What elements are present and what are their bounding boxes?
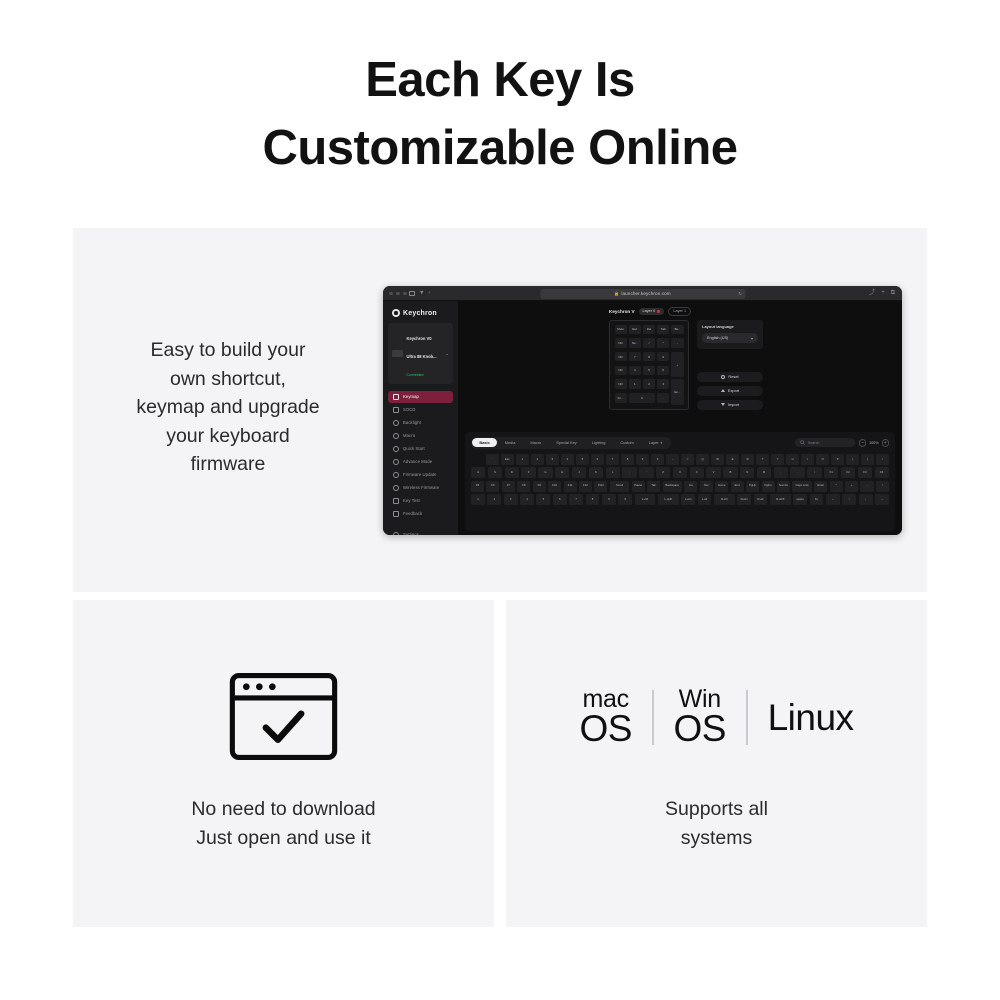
window-traffic-lights[interactable] — [389, 292, 407, 296]
key-test-icon — [393, 498, 399, 504]
keycode-key[interactable]: V — [706, 467, 720, 478]
layout-language-select[interactable]: English (US) ▾ — [702, 333, 758, 343]
keycode-key[interactable]: [ — [846, 454, 859, 465]
sidebar-item-keymap[interactable]: Keymap — [388, 391, 453, 403]
firmware-update-icon — [393, 472, 399, 478]
brand-label: Keychron — [403, 310, 437, 317]
layout-language-value: English (US) — [707, 336, 728, 340]
keycode-key[interactable]: PgDn — [762, 481, 775, 492]
keycode-key[interactable]: 0 — [651, 454, 664, 465]
page-title: Each Key Is Customizable Online — [0, 46, 1000, 182]
keycode-key[interactable]: Scroll — [610, 481, 629, 492]
tab-basic[interactable]: Basic — [472, 438, 496, 447]
keycode-key[interactable]: F — [521, 467, 535, 478]
keycode-key[interactable]: 5 — [576, 454, 589, 465]
keycode-key[interactable]: ' — [639, 467, 653, 478]
sidebar-item-advance-mode[interactable]: Advance Mode — [388, 456, 453, 468]
keycode-key[interactable]: R — [741, 454, 754, 465]
numpad-key[interactable]: 8 — [643, 352, 655, 362]
sidebar-item-macro[interactable]: Macro — [388, 430, 453, 442]
keycode-tabs-row: Basic Media Macro Special Key Lighting C… — [471, 437, 889, 449]
keycode-key[interactable]: \ — [876, 454, 889, 465]
browser-url-text: launcher.keychron.com — [621, 291, 670, 296]
numpad-key[interactable]: 1 — [629, 379, 641, 389]
keycode-key[interactable]: . — [790, 467, 804, 478]
promo-line-4: your keyboard — [100, 422, 356, 451]
keymap-config-row: Mute Esc Del Tab Bs... NO Nu... / * - NO… — [609, 320, 895, 410]
sidebar-item-firmware-update[interactable]: Firmware Update — [388, 469, 453, 481]
feature-card-no-download — [73, 600, 494, 927]
launcher-promo-text: Easy to build your own shortcut, keymap … — [100, 336, 356, 479]
caption-line-2: systems — [506, 824, 927, 853]
keycode-key[interactable]: 9 — [636, 454, 649, 465]
keycode-key[interactable]: K — [589, 467, 603, 478]
numpad-key[interactable]: 7 — [629, 352, 641, 362]
numpad-key[interactable]: 3 — [657, 379, 669, 389]
chevron-down-icon: ▾ — [751, 336, 753, 341]
browser-address-bar[interactable]: 🔒 launcher.keychron.com ↻ — [540, 289, 745, 299]
keycode-key[interactable]: F8 — [517, 481, 530, 492]
device-info: Keychron V0 Ultra 88 Knob... Connected — [407, 327, 442, 381]
keycode-key[interactable]: 9 — [602, 494, 616, 505]
promo-line-3: keymap and upgrade — [100, 393, 356, 422]
maximize-window-icon[interactable] — [403, 292, 407, 296]
keycode-key[interactable]: S — [488, 467, 502, 478]
tab-layer[interactable]: Layer▾ — [642, 438, 669, 447]
keycode-key[interactable]: → — [875, 494, 889, 505]
export-button-label: Export — [728, 388, 739, 393]
device-name-line-1: Keychron V0 — [407, 336, 432, 341]
keycode-key[interactable]: * — [830, 481, 843, 492]
launcher-app-body: Keychron Keychron V0 Ultra 88 Knob... Co… — [383, 301, 902, 535]
keycode-key[interactable]: D — [505, 467, 519, 478]
keycode-key[interactable]: 4 — [561, 454, 574, 465]
macos-logo-bottom: OS — [579, 710, 631, 747]
back-icon[interactable]: ‹ — [428, 290, 430, 297]
sidebar-item-label: Macro — [403, 433, 415, 438]
sidebar-item-label: Keymap — [403, 394, 419, 399]
keycode-key[interactable]: R-win — [737, 494, 751, 505]
macos-logo: mac OS — [579, 687, 631, 747]
keycode-picker: Basic Media Macro Special Key Lighting C… — [465, 432, 895, 531]
keycode-key[interactable]: L-ctrl — [635, 494, 656, 505]
layer-tab-label: Layer 1 — [673, 309, 686, 313]
layout-language-label: Layout language — [702, 324, 758, 329]
keycode-key[interactable]: 1 — [516, 454, 529, 465]
keycode-key[interactable]: 7 — [569, 494, 583, 505]
tab-media[interactable]: Media — [498, 438, 523, 447]
keymap-actions: Reset Export Import — [697, 372, 763, 410]
sidebar-item-label: Quick Start — [403, 446, 425, 451]
tab-custom[interactable]: Custom — [613, 438, 640, 447]
zoom-level-label: 100% — [869, 441, 878, 445]
keycode-key[interactable] — [471, 454, 484, 465]
sidebar-item-label: SOCD — [403, 407, 416, 412]
keycode-key[interactable]: 2 — [531, 454, 544, 465]
numpad-key[interactable]: Mute — [615, 325, 627, 335]
keycode-key[interactable]: B — [723, 467, 737, 478]
chevron-down-icon[interactable]: ▼ — [419, 290, 424, 297]
sidebar-item-key-test[interactable]: Key Test — [388, 495, 453, 507]
numpad-key[interactable]: 5 — [643, 366, 655, 376]
keycode-key[interactable]: 2 — [487, 494, 501, 505]
keycode-key[interactable]: 8 — [586, 494, 600, 505]
device-status: Connected — [407, 373, 424, 377]
keycode-key[interactable]: H — [555, 467, 569, 478]
keycode-key[interactable]: L — [606, 467, 620, 478]
keycode-key[interactable]: U — [786, 454, 799, 465]
sidebar-item-label: Advance Mode — [403, 459, 432, 464]
keyboard-title: Keychron V — [609, 309, 635, 314]
keycode-key[interactable]: 6 — [591, 454, 604, 465]
keycode-key[interactable]: - — [860, 481, 873, 492]
keycode-key[interactable]: Home — [715, 481, 728, 492]
keycode-key[interactable]: F9 — [533, 481, 546, 492]
page-title-line-2: Customizable Online — [0, 114, 1000, 182]
app-sidebar: Keychron Keychron V0 Ultra 88 Knob... Co… — [383, 301, 458, 535]
browser-chrome: ▼ ‹ 🔒 launcher.keychron.com ↻ ⤴ + ⧉ — [383, 286, 902, 301]
keycode-key[interactable]: Fn — [810, 494, 824, 505]
caption-line-1: No need to download — [73, 795, 494, 824]
keycode-key[interactable]: N — [740, 467, 754, 478]
caption-line-1: Supports all — [506, 795, 927, 824]
keycode-key[interactable]: ` — [486, 454, 499, 465]
keycode-key[interactable]: space — [793, 494, 807, 505]
keycode-key[interactable]: F12 — [579, 481, 592, 492]
device-name-line-2: Ultra 88 Knob... — [407, 354, 437, 359]
keycode-key[interactable]: R-ctrl — [714, 494, 735, 505]
sidebar-toggle-icon[interactable] — [409, 291, 415, 296]
feature-card-os-support — [506, 600, 927, 927]
numpad-key[interactable]: * — [657, 338, 669, 348]
keycode-key[interactable]: PgUp — [746, 481, 759, 492]
zoom-controls: − 100% + — [859, 439, 889, 447]
keycode-key[interactable]: F3 — [858, 467, 872, 478]
keycode-key[interactable]: 3 — [546, 454, 559, 465]
search-placeholder: Search — [808, 441, 820, 445]
keycode-key[interactable]: F4 — [875, 467, 889, 478]
numpad-key[interactable]: Del — [643, 325, 655, 335]
keyboard-header: Keychron V Layer 0 Layer 1 — [609, 307, 895, 316]
keycode-grid: `Esc1234567890-=QWERTYUIOP[]\ ASDFGHJKL;… — [471, 454, 889, 505]
device-selector[interactable]: Keychron V0 Ultra 88 Knob... Connected ⌄ — [388, 323, 453, 384]
keycode-key[interactable]: R-shift — [770, 494, 791, 505]
share-icon[interactable]: ⤴ — [869, 290, 875, 297]
keycode-tabs: Basic Media Macro Special Key Lighting C… — [471, 437, 671, 449]
export-button[interactable]: Export — [697, 386, 763, 396]
keycode-key[interactable]: NumLk — [777, 481, 790, 492]
search-icon — [800, 440, 805, 445]
wireless-firmware-icon — [393, 485, 399, 491]
keycode-key[interactable]: ] — [861, 454, 874, 465]
keycode-key[interactable]: 4 — [520, 494, 534, 505]
app-main-panel: Keychron V Layer 0 Layer 1 Mute Esc Del … — [458, 301, 902, 535]
keycode-key[interactable]: C — [690, 467, 704, 478]
keycode-key[interactable]: L-alt — [698, 494, 712, 505]
keycode-key[interactable]: 0 — [618, 494, 632, 505]
keycode-key[interactable]: Esc — [501, 454, 514, 465]
keycode-key[interactable]: 5 — [536, 494, 550, 505]
numpad-key-enter[interactable]: En... — [671, 379, 683, 404]
keycode-row: ASDFGHJKL;'ZXCVBNM,./F1F2F3F4 — [471, 467, 889, 478]
browser-window-check-icon — [227, 670, 340, 763]
keycode-key[interactable]: A — [471, 467, 485, 478]
numpad-key[interactable]: / — [643, 338, 655, 348]
import-button[interactable]: Import — [697, 400, 763, 410]
keycode-key[interactable]: F5 — [471, 481, 484, 492]
numpad-key[interactable]: - — [671, 338, 683, 348]
numpad-key[interactable]: NO — [615, 338, 627, 348]
keycode-key[interactable]: ; — [622, 467, 636, 478]
keycode-key[interactable]: Q — [696, 454, 709, 465]
keycode-key[interactable]: 3 — [504, 494, 518, 505]
keycode-key[interactable]: ↑ — [842, 494, 856, 505]
keycode-key[interactable]: J — [572, 467, 586, 478]
winos-logo-bottom: OS — [674, 710, 726, 747]
caption-line-2: Just open and use it — [73, 824, 494, 853]
close-window-icon[interactable] — [389, 292, 393, 296]
keycode-key[interactable]: Enter — [814, 481, 827, 492]
lock-icon: 🔒 — [614, 291, 619, 296]
keycode-key[interactable]: X — [673, 467, 687, 478]
show-tabs-icon[interactable]: ⧉ — [891, 290, 895, 297]
advance-mode-icon — [393, 459, 399, 465]
keycode-key[interactable]: 8 — [621, 454, 634, 465]
reset-button[interactable]: Reset — [697, 372, 763, 382]
keycode-key[interactable]: M — [757, 467, 771, 478]
new-tab-icon[interactable]: + — [881, 290, 885, 297]
keycode-key[interactable]: G — [538, 467, 552, 478]
keycode-key[interactable]: ↓ — [859, 494, 873, 505]
brand: Keychron — [388, 307, 453, 323]
keycode-key[interactable]: Caps Lock — [792, 481, 811, 492]
keycode-key[interactable]: L-win — [681, 494, 695, 505]
promo-line-2: own shortcut, — [100, 365, 356, 394]
numpad-key[interactable]: 4 — [629, 366, 641, 376]
numpad-key[interactable]: 2 — [643, 379, 655, 389]
keycode-key[interactable]: , — [774, 467, 788, 478]
macro-icon — [393, 433, 399, 439]
backlight-icon — [393, 420, 399, 426]
keycode-key[interactable]: / — [807, 467, 821, 478]
tab-special-key[interactable]: Special Key — [549, 438, 584, 447]
quick-start-icon — [393, 446, 399, 452]
os-support-caption: Supports all systems — [506, 795, 927, 852]
promo-line-5: firmware — [100, 450, 356, 479]
linux-logo-label: Linux — [768, 699, 854, 736]
keycode-key[interactable]: 1 — [471, 494, 485, 505]
keycode-key[interactable]: F7 — [502, 481, 515, 492]
numpad-key[interactable]: Esc — [629, 325, 641, 335]
keycode-key[interactable]: = — [681, 454, 694, 465]
layer-tab-other[interactable]: Layer 1 — [668, 307, 691, 316]
numpad-key[interactable]: . — [657, 393, 669, 403]
keycode-key[interactable]: F11 — [564, 481, 577, 492]
keycode-key[interactable]: P — [831, 454, 844, 465]
sidebar-divider — [388, 521, 453, 529]
import-button-label: Import — [728, 402, 739, 407]
keycode-key[interactable]: 6 — [553, 494, 567, 505]
keymap-icon — [393, 394, 399, 400]
zoom-in-icon[interactable]: + — [882, 439, 890, 447]
layer-tab-active[interactable]: Layer 0 — [639, 308, 665, 315]
keyboard-thumbnail-icon — [392, 350, 403, 357]
keycode-key[interactable]: W — [711, 454, 724, 465]
sidebar-item-label: Backlight — [403, 420, 421, 425]
winos-logo: Win OS — [674, 687, 726, 747]
tab-layer-label: Layer — [649, 440, 659, 445]
minimize-window-icon[interactable] — [396, 292, 400, 296]
promo-line-1: Easy to build your — [100, 336, 356, 365]
keycode-key[interactable]: Y — [771, 454, 784, 465]
keycode-key[interactable]: I — [801, 454, 814, 465]
sidebar-item-label: Settings — [403, 532, 419, 535]
keychron-logo-icon — [392, 309, 400, 317]
keycode-key[interactable]: F10 — [548, 481, 561, 492]
browser-toolbar-right[interactable]: ⤴ + ⧉ — [869, 290, 895, 297]
keycode-key[interactable]: - — [666, 454, 679, 465]
tab-macro[interactable]: Macro — [523, 438, 548, 447]
numpad-key[interactable]: NO — [615, 379, 627, 389]
keycode-row: `Esc1234567890-=QWERTYUIOP[]\ — [471, 454, 889, 465]
sidebar-item-backlight[interactable]: Backlight — [388, 417, 453, 429]
keycode-key[interactable]: F2 — [841, 467, 855, 478]
linux-logo: Linux — [768, 699, 854, 736]
numpad-key[interactable]: Nu... — [629, 338, 641, 348]
sidebar-item-quick-start[interactable]: Quick Start — [388, 443, 453, 455]
gear-icon — [393, 532, 399, 535]
numpad-key[interactable]: NO — [615, 352, 627, 362]
numpad-key[interactable]: Tab — [657, 325, 669, 335]
keycode-row: 1234567890L-ctrlL-shiftL-winL-altR-ctrlR… — [471, 494, 889, 505]
chevron-down-icon: ▾ — [661, 441, 663, 445]
os-divider-2 — [746, 690, 748, 745]
numpad-key[interactable]: 6 — [657, 366, 669, 376]
keymap-side-panel: Layout language English (US) ▾ Reset — [697, 320, 763, 410]
no-download-caption: No need to download Just open and use it — [73, 795, 494, 852]
keycode-key[interactable]: End — [731, 481, 744, 492]
refresh-icon[interactable]: ↻ — [738, 291, 742, 296]
export-icon — [721, 389, 725, 392]
reset-button-label: Reset — [728, 374, 738, 379]
chevron-down-icon[interactable]: ⌄ — [445, 351, 449, 357]
picker-search-area: Search − 100% + — [795, 438, 889, 447]
keycode-key[interactable]: F6 — [486, 481, 499, 492]
layout-language-box: Layout language English (US) ▾ — [697, 320, 763, 349]
sidebar-item-settings[interactable]: Settings — [388, 529, 453, 535]
tab-lighting[interactable]: Lighting — [585, 438, 613, 447]
browser-nav-controls[interactable]: ▼ ‹ — [409, 290, 430, 297]
keycode-key[interactable]: F1 — [824, 467, 838, 478]
keycode-key[interactable]: 7 — [606, 454, 619, 465]
numpad-key-zero[interactable]: 0 — [629, 393, 655, 403]
reset-icon — [721, 375, 725, 379]
page-root: Each Key Is Customizable Online Easy to … — [0, 0, 1000, 1000]
keycode-key[interactable]: / — [876, 481, 889, 492]
keycode-key[interactable]: Tab — [647, 481, 660, 492]
keycode-key[interactable]: Pause — [632, 481, 645, 492]
keycode-key[interactable]: ← — [826, 494, 840, 505]
socd-icon — [393, 407, 399, 413]
sidebar-item-socd[interactable]: SOCD — [388, 404, 453, 416]
feedback-icon — [393, 511, 399, 517]
sidebar-item-wireless-firmware[interactable]: Wireless Firmware — [388, 482, 453, 494]
keycode-key[interactable]: Print — [594, 481, 607, 492]
sidebar-item-label: Firmware Update — [403, 472, 437, 477]
keycode-key[interactable]: Z — [656, 467, 670, 478]
sidebar-item-label: Key Test — [403, 498, 420, 503]
keycode-key[interactable]: E — [726, 454, 739, 465]
keycode-key[interactable]: Backspace — [663, 481, 682, 492]
layer-tab-label: Layer 0 — [643, 309, 656, 313]
launcher-app-screenshot: ▼ ‹ 🔒 launcher.keychron.com ↻ ⤴ + ⧉ Keyc… — [383, 286, 902, 535]
numpad-key[interactable]: Bs... — [671, 325, 683, 335]
keycode-key[interactable]: T — [756, 454, 769, 465]
numpad-key[interactable]: 9 — [657, 352, 669, 362]
numpad-key-plus[interactable]: + — [671, 352, 683, 377]
import-icon — [721, 403, 725, 406]
os-logo-group: mac OS Win OS Linux — [506, 672, 927, 762]
numpad-preview[interactable]: Mute Esc Del Tab Bs... NO Nu... / * - NO… — [609, 320, 689, 410]
keycode-row: F5F6F7F8F9F10F11F12PrintScrollPauseTabBa… — [471, 481, 889, 492]
sidebar-item-label: Wireless Firmware — [403, 485, 439, 490]
keycode-key[interactable]: O — [816, 454, 829, 465]
numpad-key[interactable]: Fn... — [615, 393, 627, 403]
sidebar-item-feedback[interactable]: Feedback — [388, 508, 453, 520]
keycode-key[interactable]: R-alt — [754, 494, 768, 505]
keycode-key[interactable]: Del — [700, 481, 713, 492]
keycode-key[interactable]: + — [845, 481, 858, 492]
os-divider-1 — [652, 690, 654, 745]
page-title-line-1: Each Key Is — [0, 46, 1000, 114]
sidebar-item-label: Feedback — [403, 511, 422, 516]
keycode-key[interactable]: Ins — [684, 481, 697, 492]
search-input[interactable]: Search — [795, 438, 855, 447]
numpad-key[interactable]: NO — [615, 366, 627, 376]
zoom-out-icon[interactable]: − — [859, 439, 867, 447]
keycode-key[interactable]: L-shift — [658, 494, 679, 505]
